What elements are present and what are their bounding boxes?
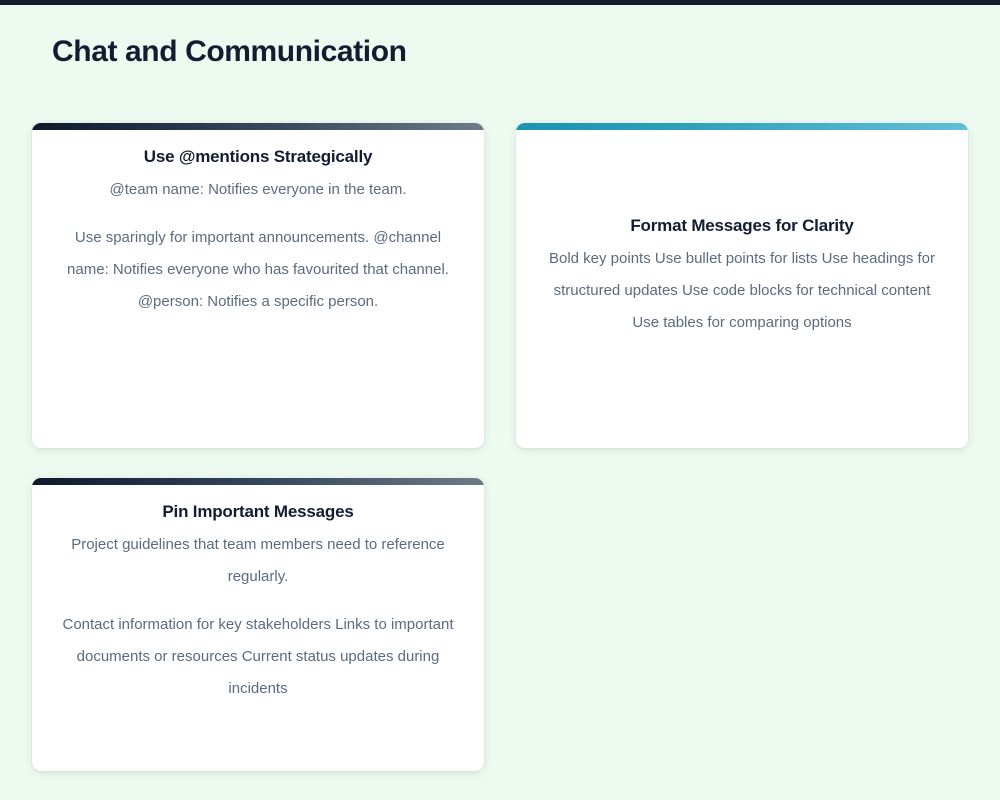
card-paragraph: Contact information for key stakeholders… [56, 609, 460, 705]
card-format-messages-for-clarity[interactable]: Format Messages for Clarity Bold key poi… [516, 123, 968, 448]
card-body: Use @mentions Strategically @team name: … [32, 130, 484, 448]
card-title: Format Messages for Clarity [540, 213, 944, 239]
card-accent-bar [32, 478, 484, 485]
page-root: Chat and Communication Use @mentions Str… [0, 5, 1000, 800]
card-paragraph: Project guidelines that team members nee… [56, 529, 460, 593]
page-title: Chat and Communication [52, 33, 407, 71]
card-paragraph: Use sparingly for important announcement… [56, 222, 460, 318]
card-paragraph: @team name: Notifies everyone in the tea… [56, 174, 460, 206]
card-accent-bar [32, 123, 484, 130]
card-title: Use @mentions Strategically [56, 144, 460, 170]
card-body: Format Messages for Clarity Bold key poi… [516, 130, 968, 448]
card-title: Pin Important Messages [56, 499, 460, 525]
card-body: Pin Important Messages Project guideline… [32, 485, 484, 771]
card-accent-bar [516, 123, 968, 130]
card-pin-important-messages[interactable]: Pin Important Messages Project guideline… [32, 478, 484, 771]
card-paragraph: Bold key points Use bullet points for li… [540, 243, 944, 339]
card-use-mentions-strategically[interactable]: Use @mentions Strategically @team name: … [32, 123, 484, 448]
